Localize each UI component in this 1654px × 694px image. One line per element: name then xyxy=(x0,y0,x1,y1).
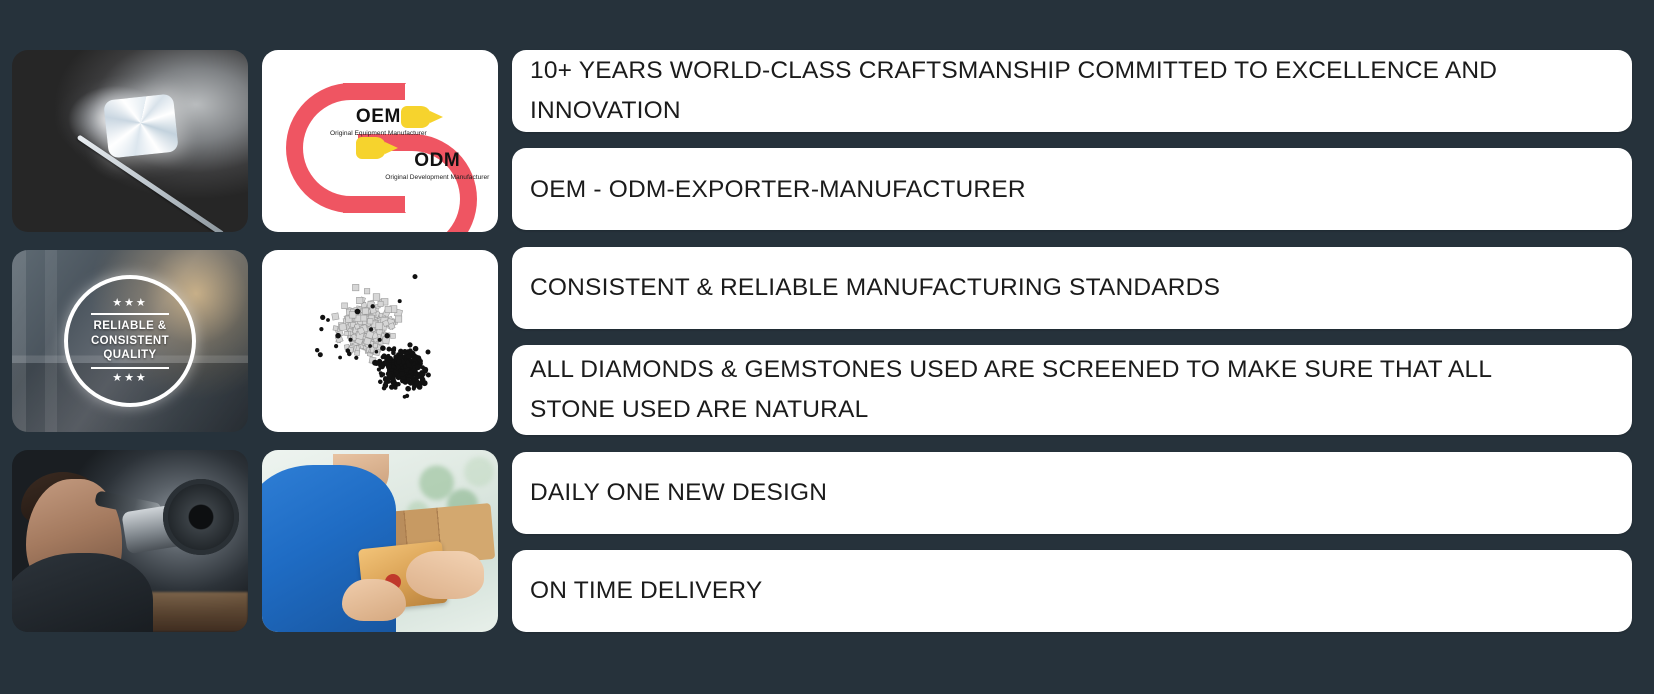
feature-label: OEM - ODM-EXPORTER-MANUFACTURER xyxy=(530,170,1026,210)
badge-divider xyxy=(91,313,169,315)
media-on-time-delivery-courier xyxy=(262,450,498,632)
feature-list: 10+ YEARS WORLD-CLASS CRAFTSMANSHIP COMM… xyxy=(512,50,1632,632)
feature-item-screened-stones[interactable]: ALL DIAMONDS & GEMSTONES USED ARE SCREEN… xyxy=(512,345,1632,435)
feature-highlight-panel: OEM Original Equipment Manufacturer ODM … xyxy=(0,0,1654,694)
stars-top-icon: ★★★ xyxy=(112,298,148,309)
badge-divider xyxy=(91,367,169,369)
feature-item-daily-new-design[interactable]: DAILY ONE NEW DESIGN xyxy=(512,452,1632,534)
microscope-lens xyxy=(163,479,239,555)
odm-subtitle: Original Development Manufacturer xyxy=(375,174,498,181)
badge-text: RELIABLE & CONSISTENT QUALITY xyxy=(91,319,169,362)
diamond-icon xyxy=(104,94,180,159)
feature-item-on-time-delivery[interactable]: ON TIME DELIVERY xyxy=(512,550,1632,632)
feature-label: DAILY ONE NEW DESIGN xyxy=(530,473,827,513)
media-gemstone-screening-scatter xyxy=(262,250,498,432)
quality-seal-badge: ★★★ RELIABLE & CONSISTENT QUALITY ★★★ xyxy=(64,275,196,407)
feature-item-manufacturing-standards[interactable]: CONSISTENT & RELIABLE MANUFACTURING STAN… xyxy=(512,247,1632,329)
oem-title: OEM xyxy=(323,106,433,128)
badge-line-1: RELIABLE & xyxy=(94,320,167,332)
oem-subtitle: Original Equipment Manufacturer xyxy=(323,130,433,137)
technician-torso xyxy=(12,553,153,632)
stars-bottom-icon: ★★★ xyxy=(112,373,148,384)
media-quality-badge: ★★★ RELIABLE & CONSISTENT QUALITY ★★★ xyxy=(12,250,248,432)
badge-line-3: QUALITY xyxy=(103,349,156,361)
courier-hand xyxy=(342,579,406,621)
scatter-plot-graphic xyxy=(262,250,498,432)
customer-hand xyxy=(406,551,484,599)
feature-label: ON TIME DELIVERY xyxy=(530,571,762,611)
media-diamond-ring-setting xyxy=(12,50,248,232)
badge-line-2: CONSISTENT xyxy=(91,335,169,347)
odm-label-group: ODM Original Development Manufacturer xyxy=(375,150,498,181)
feature-item-craftsmanship[interactable]: 10+ YEARS WORLD-CLASS CRAFTSMANSHIP COMM… xyxy=(512,50,1632,132)
feature-label: 10+ YEARS WORLD-CLASS CRAFTSMANSHIP COMM… xyxy=(530,51,1614,130)
feature-label: ALL DIAMONDS & GEMSTONES USED ARE SCREEN… xyxy=(530,350,1492,429)
odm-title: ODM xyxy=(375,150,498,172)
feature-item-oem-odm[interactable]: OEM - ODM-EXPORTER-MANUFACTURER xyxy=(512,148,1632,230)
oem-label-group: OEM Original Equipment Manufacturer xyxy=(323,106,433,137)
feature-label: CONSISTENT & RELIABLE MANUFACTURING STAN… xyxy=(530,268,1220,308)
media-oem-odm-infographic: OEM Original Equipment Manufacturer ODM … xyxy=(262,50,498,232)
media-gemologist-microscope xyxy=(12,450,248,632)
